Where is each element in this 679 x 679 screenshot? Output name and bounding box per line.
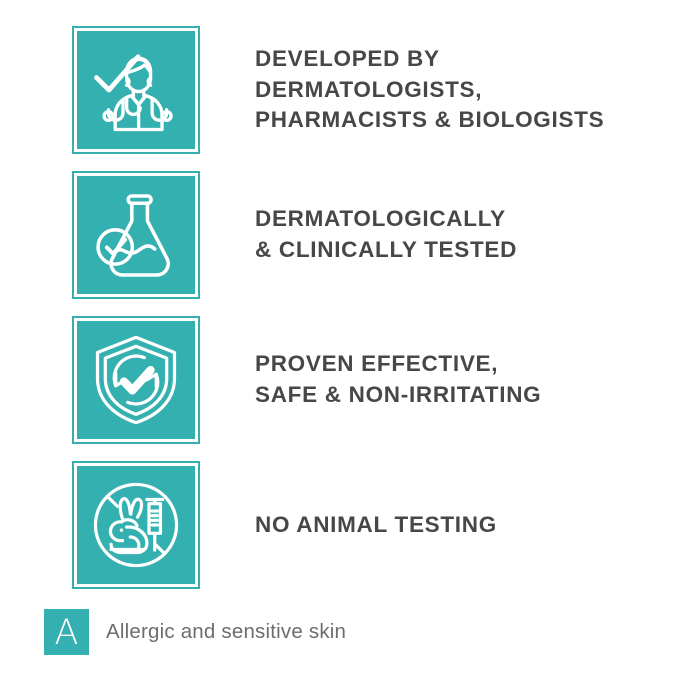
icon-box	[72, 461, 200, 589]
badge-caption: Allergic and sensitive skin	[106, 622, 346, 643]
feature-row: DEVELOPED BY DERMATOLOGISTS, PHARMACISTS…	[72, 26, 672, 154]
icon-box	[72, 26, 200, 154]
icon-box	[72, 171, 200, 299]
allergic-skin-badge: A Allergic and sensitive skin	[44, 609, 346, 655]
flask-check-icon	[77, 176, 195, 294]
product-claims-panel: DEVELOPED BY DERMATOLOGISTS, PHARMACISTS…	[0, 0, 679, 679]
badge-letter: A	[55, 616, 79, 651]
feature-text: DEVELOPED BY DERMATOLOGISTS, PHARMACISTS…	[255, 44, 672, 136]
feature-text: NO ANIMAL TESTING	[255, 510, 672, 541]
feature-row: NO ANIMAL TESTING	[72, 461, 672, 589]
badge-square: A	[44, 609, 89, 655]
feature-row: DERMATOLOGICALLY & CLINICALLY TESTED	[72, 171, 672, 299]
shield-check-icon	[77, 321, 195, 439]
feature-row: PROVEN EFFECTIVE, SAFE & NON-IRRITATING	[72, 316, 672, 444]
feature-text: PROVEN EFFECTIVE, SAFE & NON-IRRITATING	[255, 349, 672, 410]
icon-box	[72, 316, 200, 444]
doctor-check-icon	[77, 31, 195, 149]
no-animal-testing-icon	[77, 466, 195, 584]
feature-text: DERMATOLOGICALLY & CLINICALLY TESTED	[255, 204, 672, 265]
